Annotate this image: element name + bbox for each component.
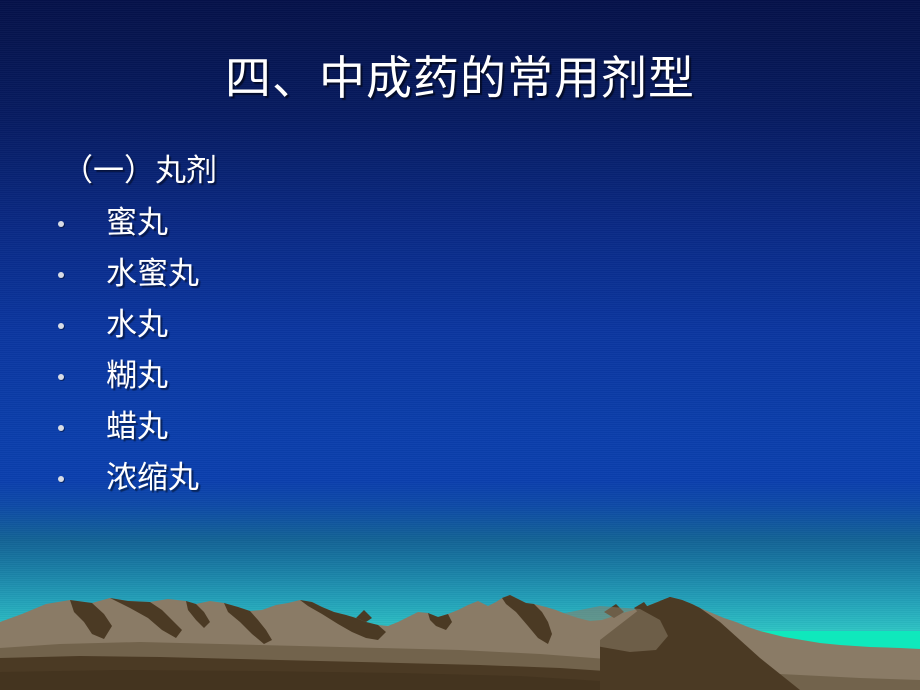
list-item: 糊丸 [0,351,920,402]
list-item-label: 蜡丸 [106,402,168,453]
list-item-label: 糊丸 [106,351,168,402]
bullet-dot-icon [58,476,64,482]
list-item-label: 浓缩丸 [106,453,199,504]
dosage-form-bullet-list: 蜜丸 水蜜丸 水丸 糊丸 蜡丸 浓缩丸 [0,198,920,504]
list-item: 蜜丸 [0,198,920,249]
subheading-wan-ji: （一）丸剂 [62,150,920,192]
list-item: 水蜜丸 [0,249,920,300]
list-item-label: 水丸 [106,300,168,351]
list-item: 蜡丸 [0,402,920,453]
slide-title: 四、中成药的常用剂型 [0,47,920,109]
list-item-label: 蜜丸 [106,198,168,249]
slide-body: （一）丸剂 蜜丸 水蜜丸 水丸 糊丸 蜡丸 [0,150,920,504]
bullet-dot-icon [58,323,64,329]
list-item: 水丸 [0,300,920,351]
bullet-dot-icon [58,221,64,227]
list-item: 浓缩丸 [0,453,920,504]
bullet-dot-icon [58,425,64,431]
list-item-label: 水蜜丸 [106,249,199,300]
bullet-dot-icon [58,272,64,278]
slide-canvas: 四、中成药的常用剂型 （一）丸剂 蜜丸 水蜜丸 水丸 糊丸 [0,0,920,690]
bullet-dot-icon [58,374,64,380]
